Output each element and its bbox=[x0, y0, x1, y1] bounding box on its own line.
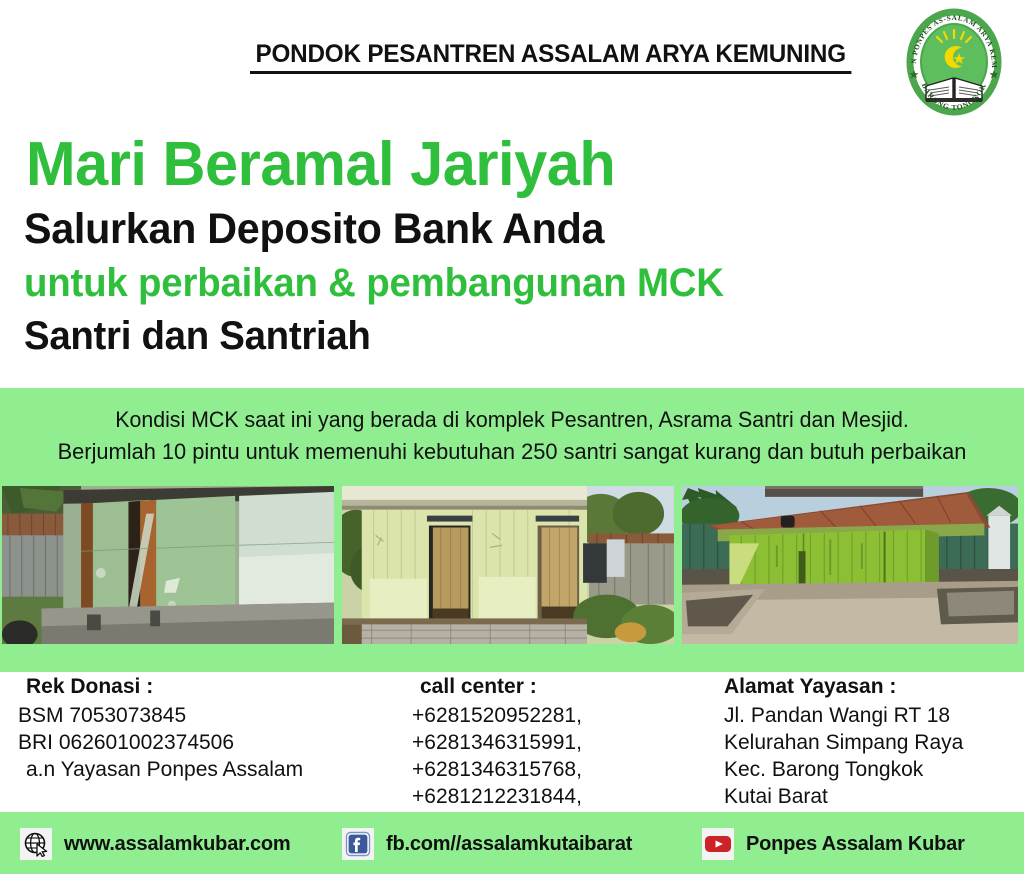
social-footer: www.assalamkubar.com fb.com//assalamkuta… bbox=[0, 812, 1024, 874]
contact-section: Rek Donasi : BSM 7053073845 BRI 06260100… bbox=[0, 672, 1024, 812]
facebook-link[interactable]: fb.com//assalamkutaibarat bbox=[342, 828, 632, 860]
headline-tertiary: untuk perbaikan & pembangunan MCK bbox=[24, 256, 984, 310]
website-link[interactable]: www.assalamkubar.com bbox=[20, 828, 290, 860]
youtube-link[interactable]: Ponpes Assalam Kubar bbox=[702, 828, 965, 860]
condition-band: Kondisi MCK saat ini yang berada di komp… bbox=[0, 388, 1024, 672]
donation-account-column: Rek Donasi : BSM 7053073845 BRI 06260100… bbox=[18, 672, 398, 783]
condition-description-line-1: Kondisi MCK saat ini yang berada di komp… bbox=[15, 404, 1008, 436]
donation-account-line: BRI 062601002374506 bbox=[18, 729, 398, 756]
globe-cursor-icon bbox=[20, 828, 52, 860]
address-line: Kutai Barat bbox=[724, 783, 1024, 810]
donation-poster: PONDOK PESANTREN ASSALAM ARYA KEMUNING bbox=[0, 0, 1024, 874]
organization-title: PONDOK PESANTREN ASSALAM ARYA KEMUNING bbox=[250, 40, 851, 74]
headline-quaternary: Santri dan Santriah bbox=[24, 310, 984, 362]
address-line: Kelurahan Simpang Raya bbox=[724, 729, 1024, 756]
call-center-number[interactable]: +6281346315991, bbox=[412, 729, 712, 756]
address-line: Kec. Barong Tongkok bbox=[724, 756, 1024, 783]
youtube-icon bbox=[702, 828, 734, 860]
headline-block: Mari Beramal Jariyah Salurkan Deposito B… bbox=[0, 128, 1024, 362]
address-column: Alamat Yayasan : Jl. Pandan Wangi RT 18 … bbox=[724, 672, 1024, 810]
youtube-label: Ponpes Assalam Kubar bbox=[746, 833, 965, 856]
photo-strip bbox=[0, 484, 1024, 646]
poster-header: PONDOK PESANTREN ASSALAM ARYA KEMUNING bbox=[0, 0, 1024, 130]
donation-account-heading: Rek Donasi : bbox=[18, 672, 398, 702]
photo-mck-green-wall bbox=[0, 484, 336, 646]
call-center-heading: call center : bbox=[412, 672, 712, 702]
call-center-column: call center : +6281520952281, +628134631… bbox=[412, 672, 712, 810]
address-heading: Alamat Yayasan : bbox=[724, 672, 1024, 702]
call-center-number[interactable]: +6281520952281, bbox=[412, 702, 712, 729]
call-center-number[interactable]: +6281346315768, bbox=[412, 756, 712, 783]
condition-description-line-2: Berjumlah 10 pintu untuk memenuhi kebutu… bbox=[15, 436, 1008, 468]
photo-mck-red-roof bbox=[680, 484, 1020, 646]
address-line: Jl. Pandan Wangi RT 18 bbox=[724, 702, 1024, 729]
photo-mck-two-doors bbox=[340, 484, 676, 646]
donation-account-line: BSM 7053073845 bbox=[18, 702, 398, 729]
headline-primary: Mari Beramal Jariyah bbox=[26, 128, 984, 202]
facebook-label: fb.com//assalamkutaibarat bbox=[386, 833, 632, 856]
yayasan-seal-logo: YAYASAN PONPES AS-SALAM ARYA KEMUNING BA… bbox=[902, 8, 1006, 116]
website-label: www.assalamkubar.com bbox=[64, 833, 290, 856]
facebook-icon bbox=[342, 828, 374, 860]
call-center-number[interactable]: +6281212231844, bbox=[412, 783, 712, 810]
condition-description: Kondisi MCK saat ini yang berada di komp… bbox=[0, 404, 1024, 468]
donation-account-line: a.n Yayasan Ponpes Assalam bbox=[18, 756, 398, 783]
headline-secondary: Salurkan Deposito Bank Anda bbox=[24, 202, 984, 256]
